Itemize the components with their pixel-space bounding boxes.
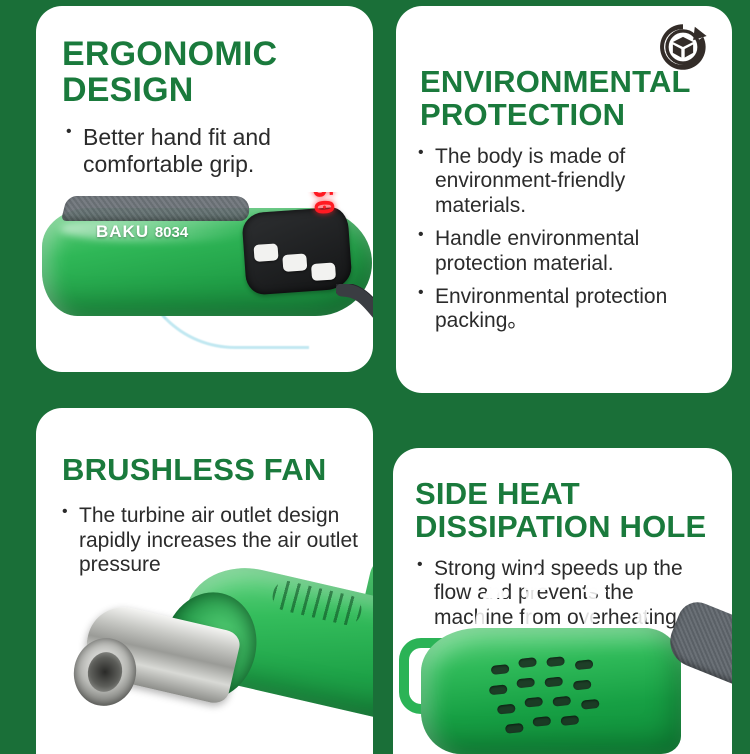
list-item: Handle environmental protection material…	[418, 227, 718, 277]
panel-ergonomic-design: ERGONOMIC DESIGN Better hand fit and com…	[36, 6, 373, 372]
title-line-2: PROTECTION	[420, 97, 625, 132]
model-number: 8034	[155, 224, 188, 241]
title-line-1: ENVIRONMENTAL	[420, 64, 691, 99]
product-image-nozzle	[36, 554, 373, 754]
panel-environmental-protection: ENVIRONMENTAL PROTECTION The body is mad…	[396, 6, 732, 393]
control-keypad: 350	[241, 206, 352, 295]
keypad-button-1	[253, 243, 278, 262]
title-line-2: DISSIPATION HOLE	[415, 509, 706, 544]
product-image-side-vents	[393, 564, 732, 754]
bullet-list-environmental-protection: The body is made of environment-friendly…	[418, 145, 718, 334]
title-line-1: BRUSHLESS FAN	[62, 452, 326, 487]
panel-title-ergonomic-design: ERGONOMIC DESIGN	[36, 6, 373, 108]
keypad-button-2	[282, 253, 307, 272]
list-item: Environmental protection packing。	[418, 285, 718, 335]
title-line-1: ERGONOMIC	[62, 35, 277, 73]
panel-side-heat-dissipation-hole: SIDE HEAT DISSIPATION HOLE Strong wind s…	[393, 448, 732, 754]
bullet-list-ergonomic-design: Better hand fit and comfortable grip.	[66, 124, 328, 178]
led-display-value: 350	[305, 192, 338, 217]
grip-pad-texture	[61, 196, 253, 221]
list-item: Better hand fit and comfortable grip.	[66, 124, 328, 178]
title-line-1: SIDE HEAT	[415, 476, 580, 511]
keypad-button-3	[311, 262, 336, 281]
vent-hole-grid	[486, 650, 613, 754]
product-image-heat-gun-handle: BAKU 8034 350	[36, 192, 373, 372]
product-feature-poster: ERGONOMIC DESIGN Better hand fit and com…	[0, 0, 750, 750]
recycle-package-icon	[656, 20, 710, 74]
brand-name: BAKU	[96, 222, 149, 241]
title-line-2: DESIGN	[62, 71, 194, 109]
panel-title-brushless-fan: BRUSHLESS FAN	[36, 408, 373, 487]
panel-title-side-heat-dissipation-hole: SIDE HEAT DISSIPATION HOLE	[393, 448, 732, 544]
panel-brushless-fan: BRUSHLESS FAN The turbine air outlet des…	[36, 408, 373, 754]
brand-label: BAKU 8034	[96, 222, 188, 242]
list-item: The body is made of environment-friendly…	[418, 145, 718, 219]
power-cord	[336, 284, 373, 362]
